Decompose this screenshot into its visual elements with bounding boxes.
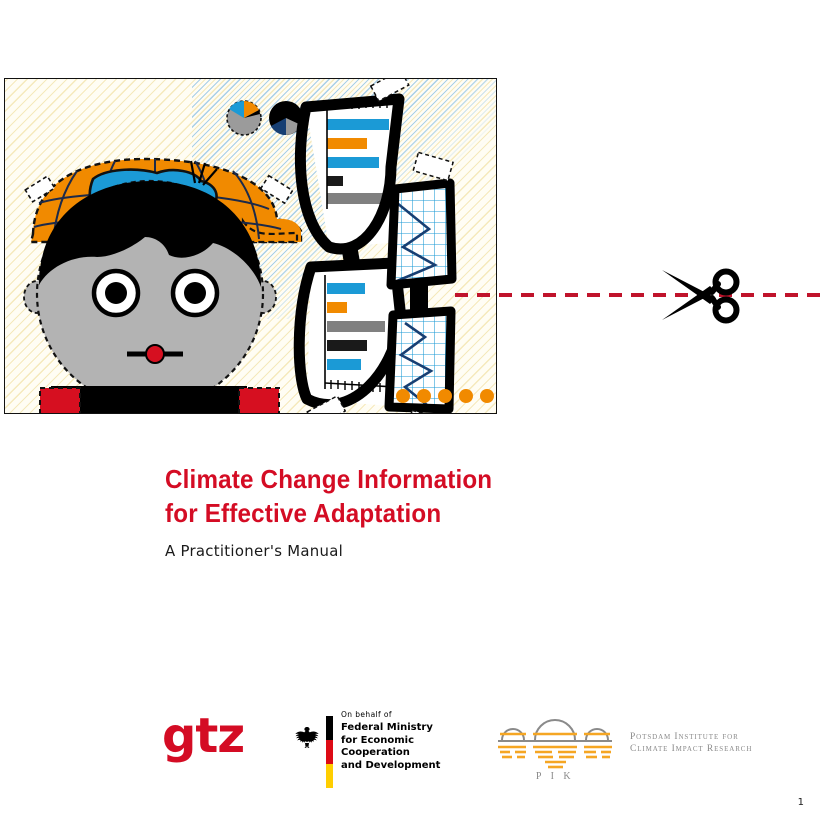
cut-here-dashed-line <box>455 293 826 297</box>
pik-acronym: P I K <box>536 771 574 780</box>
on-behalf-of-label: On behalf of <box>341 710 474 719</box>
pik-line-2: Climate Impact Research <box>630 744 752 756</box>
pik-line-1: Potsdam Institute for <box>630 732 752 744</box>
pie-chart-1 <box>227 101 261 135</box>
bmz-logo: On behalf of Federal Ministry for Econom… <box>294 706 474 788</box>
line-chart-bowtie-icon <box>385 152 457 414</box>
page-title-line-1: Climate Change Information <box>165 462 649 496</box>
bmz-line-2: for Economic Cooperation <box>341 735 474 760</box>
german-eagle-icon <box>294 724 320 750</box>
bmz-line-3: and Development <box>341 760 474 773</box>
pik-text-block: Potsdam Institute for Climate Impact Res… <box>630 732 752 755</box>
page-subtitle: A Practitioner's Manual <box>165 542 664 560</box>
gtz-logo: gtz <box>162 712 244 760</box>
logo-row: gtz On behalf of Federal Ministry for Ec… <box>160 700 780 790</box>
illustration-artwork <box>5 79 497 414</box>
page-title-line-2: for Effective Adaptation <box>165 496 649 530</box>
title-block: Climate Change Information for Effective… <box>165 462 685 560</box>
german-flag-stripe <box>326 716 333 788</box>
bmz-text-block: On behalf of Federal Ministry for Econom… <box>341 710 474 772</box>
cover-illustration <box>4 78 497 414</box>
cover-page: Climate Change Information for Effective… <box>0 0 826 826</box>
scissors-icon <box>660 262 744 328</box>
pik-logo: P I K Potsdam Institute for Climate Impa… <box>490 710 780 782</box>
pik-emblem-icon: P I K <box>490 710 620 780</box>
page-number: 1 <box>798 797 804 808</box>
bmz-line-1: Federal Ministry <box>341 722 474 735</box>
